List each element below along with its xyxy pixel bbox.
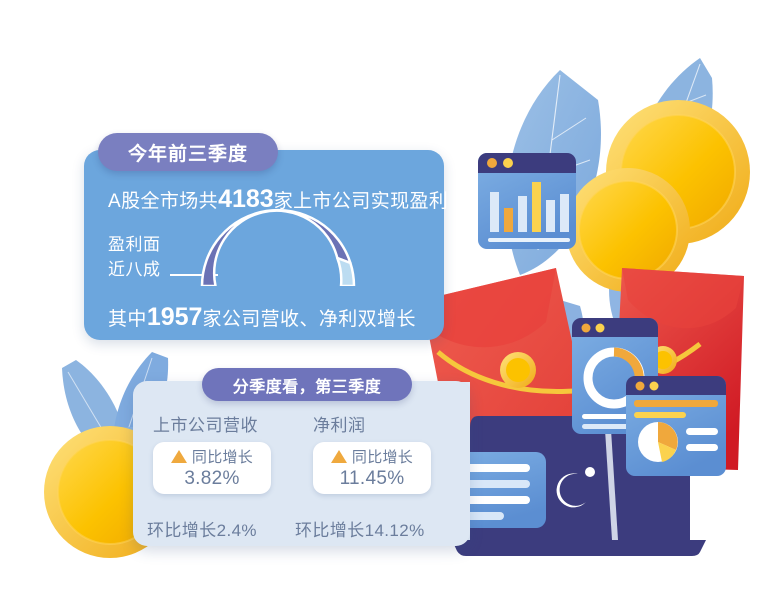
footline-prefix: 其中: [108, 309, 147, 330]
pie-chart-window: [626, 376, 726, 476]
metric-value-box: 同比增长 3.82%: [153, 442, 271, 494]
top-card-footline: 其中1957家公司营收、净利双增长: [108, 303, 438, 332]
metric-yoy-label: 同比增长: [192, 446, 253, 467]
gauge-svg: [198, 208, 358, 286]
metric-yoy-value: 11.45%: [340, 468, 405, 490]
footline-suffix: 家公司营收、净利双增长: [202, 309, 415, 330]
metric-yoy-row: 同比增长: [171, 446, 253, 467]
metric-net-profit: 净利润 同比增长 11.45%: [313, 411, 458, 494]
metric-qoq-revenue: 环比增长2.4%: [147, 516, 257, 541]
metric-qoq-net-profit: 环比增长14.12%: [295, 516, 425, 541]
gauge-label-line1: 盈利面: [108, 232, 161, 257]
metric-caption: 净利润: [313, 411, 458, 436]
gauge-segment-other: [337, 258, 354, 286]
footline-number: 1957: [147, 303, 203, 331]
metric-yoy-value: 3.82%: [184, 468, 239, 490]
bar-chart-window: [478, 153, 576, 249]
top-card-badge: 今年前三季度: [98, 133, 278, 171]
gauge-label: 盈利面 近八成: [108, 232, 161, 282]
gauge-label-line2: 近八成: [108, 257, 161, 282]
arrow-up-icon: [331, 450, 347, 463]
metric-yoy-label: 同比增长: [352, 446, 413, 467]
arrow-up-icon: [171, 450, 187, 463]
gold-coin: [506, 358, 530, 382]
metric-value-box: 同比增长 11.45%: [313, 442, 431, 494]
metric-yoy-row: 同比增长: [331, 446, 413, 467]
profitability-gauge-chart: [198, 208, 358, 286]
infographic-canvas: 今年前三季度 A股全市场共4183家上市公司实现盈利 盈利面 近八成 其中195…: [0, 0, 768, 599]
metric-revenue: 上市公司营收 同比增长 3.82%: [153, 411, 298, 494]
gauge-segment-profit: [202, 210, 350, 286]
bottom-card-badge: 分季度看，第三季度: [202, 368, 412, 401]
metric-caption: 上市公司营收: [153, 411, 298, 436]
